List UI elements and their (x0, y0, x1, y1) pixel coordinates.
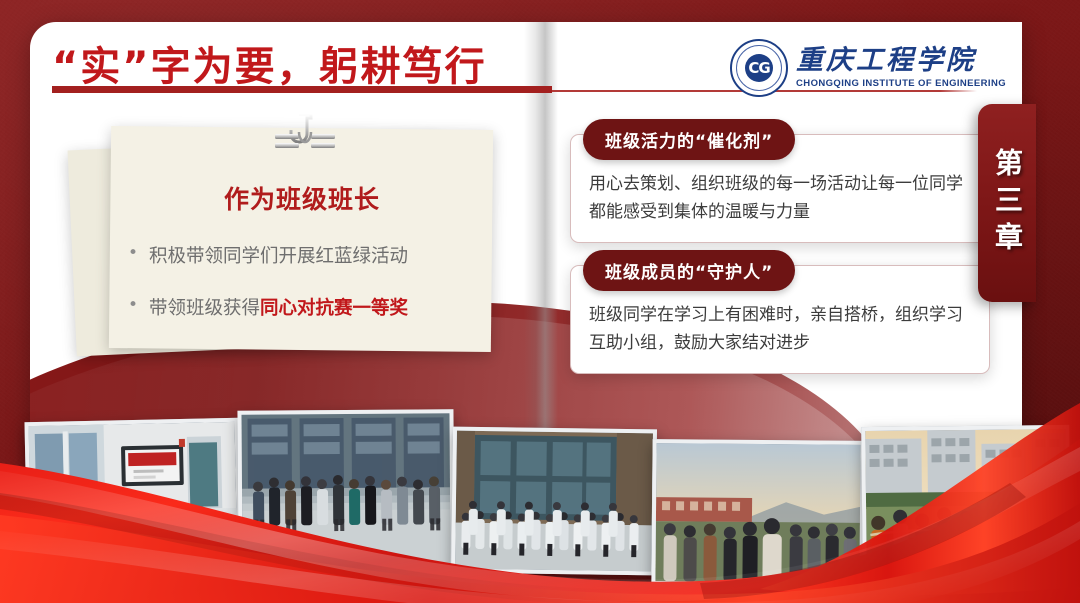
photo-tug-of-war (861, 425, 1071, 577)
bullet-dot-icon: • (128, 242, 138, 264)
photo-strip (0, 398, 1080, 578)
chapter-tab: 第三章 (978, 104, 1036, 302)
page-title: “实”字为要，躬耕笃行 (52, 34, 487, 92)
note-card-content: 作为班级班长 • 积极带领同学们开展红蓝绿活动 • 带领班级获得同心对抗赛一等奖 (116, 138, 488, 348)
info-card-list: 班级活力的“催化剂” 用心去策划、组织班级的每一场活动让每一位同学都能感受到集体… (570, 134, 990, 396)
info-card-body: 用心去策划、组织班级的每一场活动让每一位同学都能感受到集体的温暖与力量 (589, 171, 971, 226)
slide-header: “实”字为要，躬耕笃行 CG 重庆工程学院 CHONGQING INSTITUT… (30, 22, 1022, 118)
note-bullet-text: 积极带领同学们开展红蓝绿活动 (149, 242, 408, 268)
bullet-dot-icon: • (128, 294, 138, 316)
logo-name-cn: 重庆工程学院 (796, 47, 976, 74)
photo-classroom-lecture (24, 418, 241, 570)
title-underline-thick (52, 86, 552, 93)
note-bullet-item: • 积极带领同学们开展红蓝绿活动 (128, 242, 488, 268)
info-card-title: 班级成员的“守护人” (583, 250, 795, 291)
photo-group-on-steps (237, 409, 454, 569)
university-logo: CG 重庆工程学院 CHONGQING INSTITUTE OF ENGINEE… (730, 38, 1006, 98)
binder-clip-icon (269, 112, 341, 156)
note-bullet-prefix: 带领班级获得 (149, 298, 260, 319)
photo-class-portrait-building (451, 427, 657, 576)
note-card-stack: 作为班级班长 • 积极带领同学们开展红蓝绿活动 • 带领班级获得同心对抗赛一等奖 (72, 124, 492, 354)
photo-evening-field-gathering (651, 439, 864, 587)
note-card-heading: 作为班级班长 (116, 180, 488, 216)
info-card: 班级活力的“催化剂” 用心去策划、组织班级的每一场活动让每一位同学都能感受到集体… (570, 134, 990, 243)
info-card-body: 班级同学在学习上有困难时，亲自搭桥，组织学习互助小组，鼓励大家结对进步 (589, 302, 971, 357)
note-bullet-item: • 带领班级获得同心对抗赛一等奖 (128, 294, 488, 320)
logo-name-en: CHONGQING INSTITUTE OF ENGINEERING (796, 79, 1006, 89)
note-bullet-highlight: 同心对抗赛一等奖 (260, 298, 408, 319)
info-card: 班级成员的“守护人” 班级同学在学习上有困难时，亲自搭桥，组织学习互助小组，鼓励… (570, 265, 990, 374)
logo-emblem-icon: CG (730, 39, 788, 97)
note-bullet-text: 带领班级获得同心对抗赛一等奖 (149, 294, 408, 320)
info-card-title: 班级活力的“催化剂” (583, 119, 795, 160)
chapter-label: 第三章 (987, 148, 1027, 259)
slide-canvas: “实”字为要，躬耕笃行 CG 重庆工程学院 CHONGQING INSTITUT… (0, 0, 1080, 603)
